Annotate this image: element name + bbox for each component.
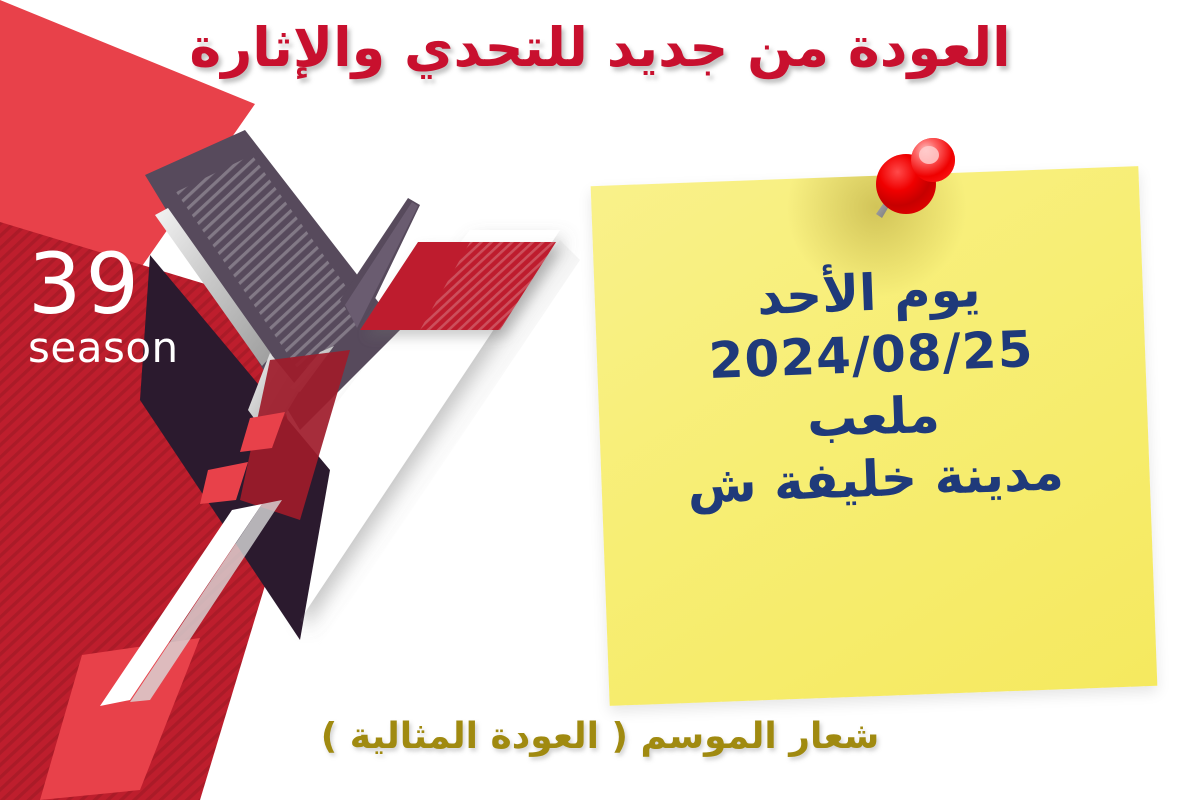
note-content: يوم الأحد 2024/08/25 ملعب مدينة خليفة ش xyxy=(594,252,1151,520)
abstract-book-artwork xyxy=(0,0,620,800)
season-slogan: شعار الموسم ( العودة المثالية ) xyxy=(0,716,1200,757)
sticky-note: يوم الأحد 2024/08/25 ملعب مدينة خليفة ش xyxy=(591,166,1158,706)
season-label: season xyxy=(28,327,179,369)
season-badge: 39 season xyxy=(28,246,179,369)
page-title: العودة من جديد للتحدي والإثارة xyxy=(0,14,1200,82)
pushpin-icon xyxy=(858,132,968,242)
poster-canvas: 39 season العودة من جديد للتحدي والإثارة… xyxy=(0,0,1200,800)
season-number: 39 xyxy=(28,246,179,323)
